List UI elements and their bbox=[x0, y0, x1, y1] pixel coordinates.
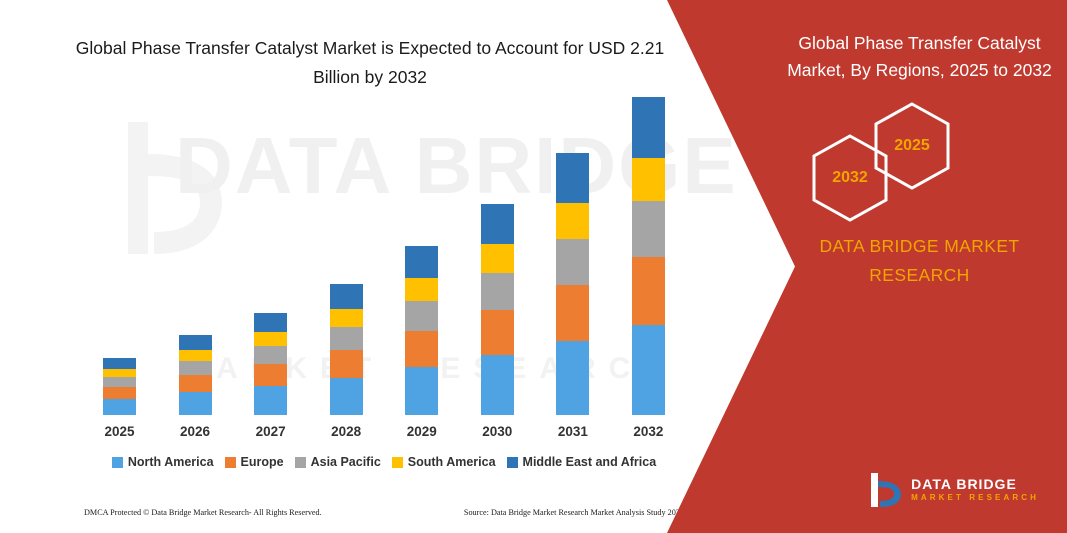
legend-item: North America bbox=[112, 455, 214, 469]
bar-segment bbox=[556, 341, 589, 415]
stacked-bar bbox=[254, 313, 287, 415]
bar-segment bbox=[556, 153, 589, 203]
brand-logo-subtitle: MARKET RESEARCH bbox=[911, 492, 1039, 504]
bar-column bbox=[613, 97, 684, 415]
bar-segment bbox=[103, 369, 136, 377]
stacked-bar bbox=[103, 358, 136, 415]
bar-segment bbox=[405, 331, 438, 367]
bar-segment bbox=[330, 309, 363, 327]
legend-label: Middle East and Africa bbox=[523, 455, 657, 469]
bar-column bbox=[386, 246, 457, 415]
legend-item: South America bbox=[392, 455, 496, 469]
bar-segment bbox=[179, 335, 212, 350]
bar-segment bbox=[254, 313, 287, 332]
brand-logo: DATA BRIDGE MARKET RESEARCH bbox=[867, 471, 1039, 509]
bar-segment bbox=[632, 257, 665, 325]
panel-brand: DATA BRIDGE MARKET RESEARCH bbox=[787, 232, 1052, 290]
bar-column bbox=[84, 358, 155, 415]
bar-segment bbox=[405, 278, 438, 301]
bar-segment bbox=[632, 325, 665, 415]
hexagon-2032-label: 2032 bbox=[832, 169, 868, 187]
bar-column bbox=[462, 204, 533, 415]
stacked-bar bbox=[405, 246, 438, 415]
legend-label: North America bbox=[128, 455, 214, 469]
bar-segment bbox=[179, 350, 212, 361]
legend-label: South America bbox=[408, 455, 496, 469]
stacked-bar bbox=[179, 335, 212, 415]
footer-copyright: DMCA Protected © Data Bridge Market Rese… bbox=[84, 508, 322, 517]
x-axis-tick-label: 2028 bbox=[311, 424, 382, 439]
legend-swatch bbox=[225, 457, 236, 468]
x-axis-tick-label: 2025 bbox=[84, 424, 155, 439]
x-axis-tick-label: 2031 bbox=[537, 424, 608, 439]
bar-segment bbox=[481, 355, 514, 415]
legend-swatch bbox=[392, 457, 403, 468]
chart-plot bbox=[84, 110, 684, 415]
bar-segment bbox=[330, 284, 363, 309]
bar-segment bbox=[632, 97, 665, 158]
panel-brand-line1: DATA BRIDGE MARKET bbox=[787, 232, 1052, 261]
bar-segment bbox=[632, 201, 665, 257]
footer-source: Source: Data Bridge Market Research Mark… bbox=[464, 508, 684, 517]
legend-label: Asia Pacific bbox=[311, 455, 381, 469]
bar-segment bbox=[103, 387, 136, 399]
bar-segment bbox=[103, 377, 136, 387]
panel-brand-line2: RESEARCH bbox=[787, 261, 1052, 290]
bar-segment bbox=[254, 346, 287, 364]
legend-swatch bbox=[507, 457, 518, 468]
bar-segment bbox=[103, 358, 136, 369]
bar-segment bbox=[556, 239, 589, 285]
chart-legend: North AmericaEuropeAsia PacificSouth Ame… bbox=[84, 455, 684, 469]
stacked-bar bbox=[556, 153, 589, 415]
bar-segment bbox=[481, 310, 514, 355]
brand-logo-title: DATA BRIDGE bbox=[911, 476, 1039, 492]
bar-segment bbox=[556, 203, 589, 239]
bar-segment bbox=[481, 204, 514, 244]
x-axis-labels: 20252026202720282029203020312032 bbox=[84, 424, 684, 439]
bar-segment bbox=[556, 285, 589, 341]
footer-note: DMCA Protected © Data Bridge Market Rese… bbox=[84, 508, 684, 517]
bar-segment bbox=[254, 386, 287, 415]
bar-column bbox=[235, 313, 306, 415]
bar-segment bbox=[405, 367, 438, 415]
bar-segment bbox=[254, 364, 287, 386]
bar-segment bbox=[632, 158, 665, 201]
legend-item: Middle East and Africa bbox=[507, 455, 657, 469]
bar-segment bbox=[103, 399, 136, 415]
chart-title: Global Phase Transfer Catalyst Market is… bbox=[60, 34, 680, 92]
bar-group bbox=[84, 110, 684, 415]
x-axis-tick-label: 2027 bbox=[235, 424, 306, 439]
hexagon-2025: 2025 bbox=[871, 100, 953, 192]
bar-segment bbox=[179, 375, 212, 392]
chart-page: DATA BRIDGE MARKET RESEARCH Global Phase… bbox=[0, 0, 1067, 533]
stacked-bar bbox=[330, 284, 363, 415]
x-axis-tick-label: 2029 bbox=[386, 424, 457, 439]
bar-segment bbox=[330, 378, 363, 415]
legend-item: Asia Pacific bbox=[295, 455, 381, 469]
stacked-bar bbox=[481, 204, 514, 415]
x-axis-tick-label: 2026 bbox=[160, 424, 231, 439]
bar-segment bbox=[179, 361, 212, 375]
bar-segment bbox=[179, 392, 212, 415]
x-axis-tick-label: 2030 bbox=[462, 424, 533, 439]
hexagon-2025-label: 2025 bbox=[894, 137, 930, 155]
legend-item: Europe bbox=[225, 455, 284, 469]
legend-label: Europe bbox=[241, 455, 284, 469]
chart-area: Global Phase Transfer Catalyst Market is… bbox=[0, 0, 740, 533]
bar-column bbox=[160, 335, 231, 415]
hexagon-group: 2032 2025 bbox=[807, 112, 1057, 208]
x-axis-tick-label: 2032 bbox=[613, 424, 684, 439]
bar-segment bbox=[481, 244, 514, 273]
bar-segment bbox=[254, 332, 287, 346]
bar-segment bbox=[405, 301, 438, 331]
bar-segment bbox=[330, 327, 363, 350]
bar-segment bbox=[481, 273, 514, 310]
legend-swatch bbox=[295, 457, 306, 468]
stacked-bar bbox=[632, 97, 665, 415]
bar-segment bbox=[405, 246, 438, 278]
bar-column bbox=[537, 153, 608, 415]
bar-column bbox=[311, 284, 382, 415]
bar-segment bbox=[330, 350, 363, 378]
legend-swatch bbox=[112, 457, 123, 468]
panel-title: Global Phase Transfer Catalyst Market, B… bbox=[787, 30, 1052, 84]
brand-logo-icon bbox=[867, 471, 903, 509]
